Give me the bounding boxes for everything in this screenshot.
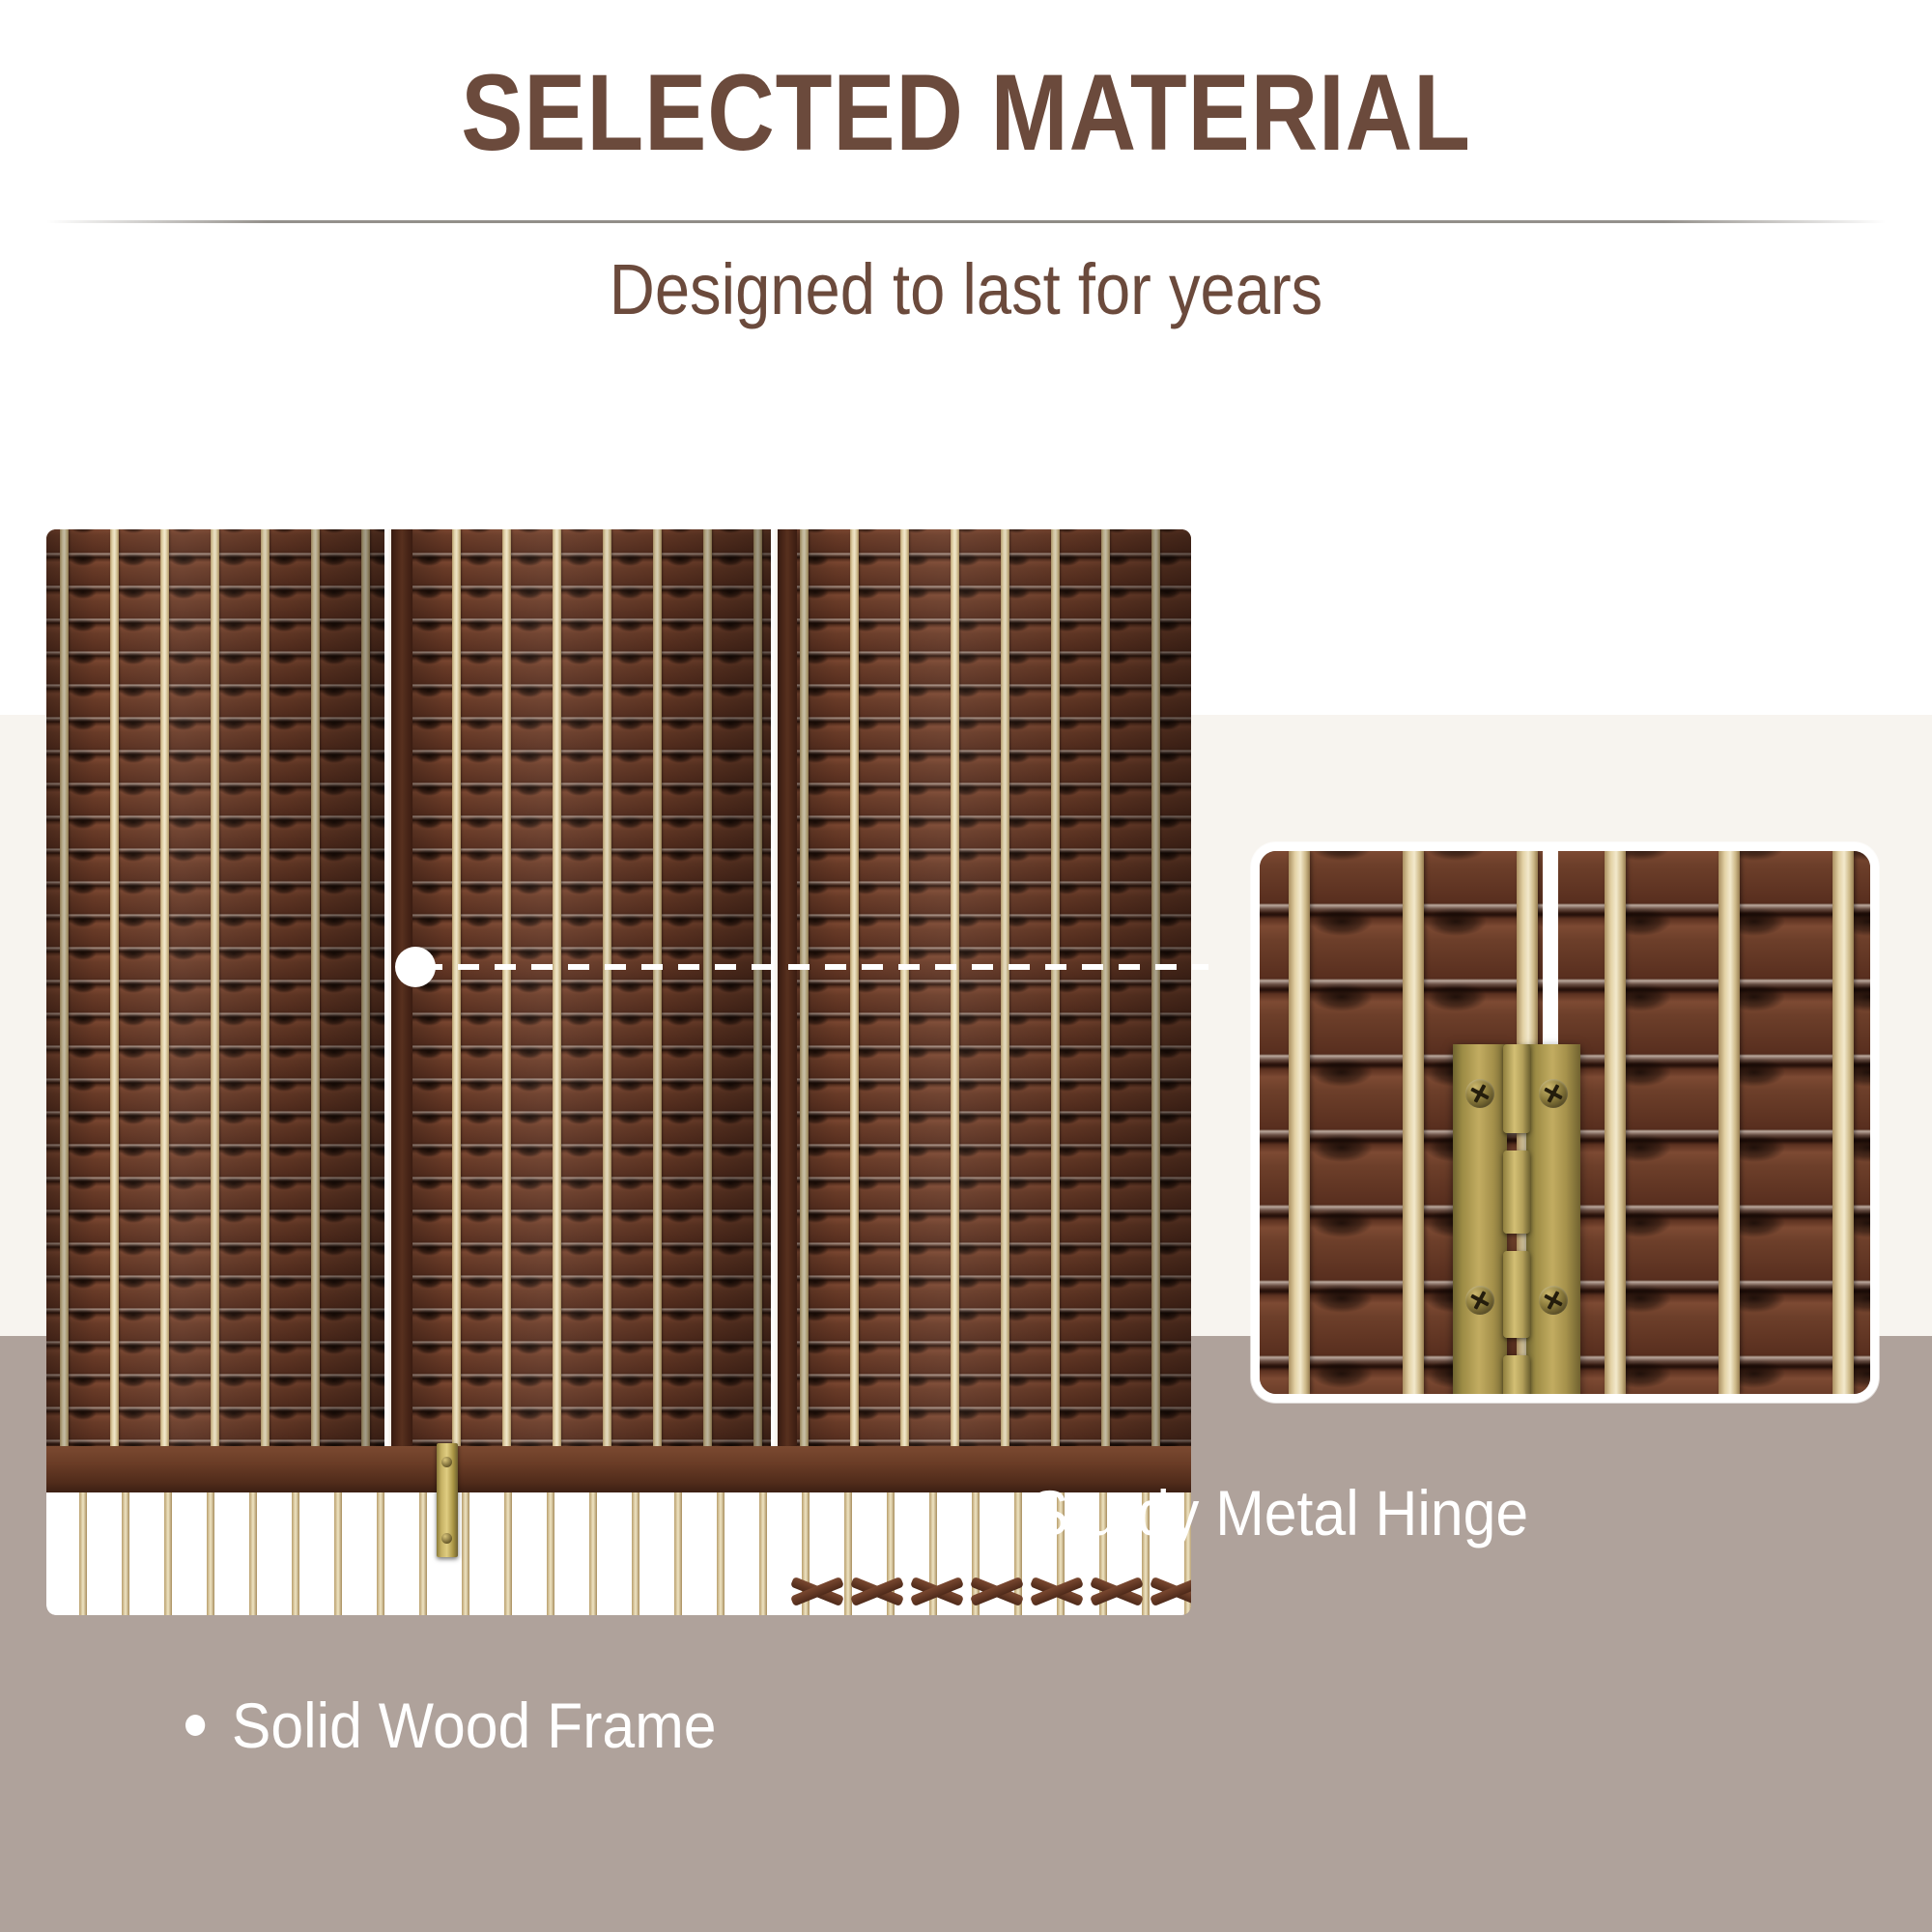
rattan-strand [1289, 851, 1310, 1394]
page-title: SELECTED MATERIAL [135, 0, 1797, 170]
feature-label-solid-wood-frame: Solid Wood Frame [185, 1689, 717, 1762]
rattan-weave-texture [1558, 851, 1870, 1394]
rattan-strand [207, 1492, 214, 1615]
metal-hinge-icon [1453, 1044, 1580, 1403]
rattan-strand [334, 1492, 342, 1615]
x-weave-motif [790, 1571, 844, 1609]
rattan-strand [292, 1492, 299, 1615]
rattan-strand [377, 1492, 384, 1615]
main-product-image [46, 529, 1191, 1615]
rattan-strand [1403, 851, 1424, 1394]
rattan-strand [632, 1492, 639, 1615]
x-weave-motif [970, 1571, 1024, 1609]
x-weave-motif [1090, 1571, 1144, 1609]
callout-dot [395, 947, 436, 987]
rattan-strand [674, 1492, 682, 1615]
panel-gap [1543, 851, 1558, 1052]
bullet-dot-icon [185, 1715, 205, 1736]
title-divider [46, 220, 1886, 223]
rattan-strand [759, 1492, 767, 1615]
header: SELECTED MATERIAL [0, 0, 1932, 170]
x-weave-motif [850, 1571, 904, 1609]
feature-label-text: Sturdy Metal Hinge [1030, 1476, 1528, 1549]
rattan-strand [504, 1492, 512, 1615]
rattan-strand [1833, 851, 1854, 1394]
rattan-strand [419, 1492, 427, 1615]
rattan-strand [1605, 851, 1626, 1394]
hinge-icon [437, 1443, 458, 1557]
rattan-strand [589, 1492, 597, 1615]
rattan-strand [462, 1492, 469, 1615]
feature-label-sturdy-metal-hinge: Sturdy Metal Hinge [983, 1476, 1528, 1549]
callout-dashed-line [421, 964, 1208, 970]
hinge-detail-inset [1251, 842, 1879, 1403]
rattan-strand [249, 1492, 257, 1615]
bullet-dot-icon [983, 1502, 1003, 1523]
rattan-strand [122, 1492, 129, 1615]
x-weave-motif [1030, 1571, 1084, 1609]
rattan-strand [79, 1492, 87, 1615]
page-subtitle: Designed to last for years [116, 249, 1816, 330]
rattan-strand [717, 1492, 724, 1615]
rattan-strand [1719, 851, 1740, 1394]
x-weave-motif [1150, 1571, 1191, 1609]
rattan-strand [164, 1492, 172, 1615]
rattan-strand [547, 1492, 554, 1615]
x-weave-motif [910, 1571, 964, 1609]
feature-label-text: Solid Wood Frame [232, 1689, 717, 1762]
